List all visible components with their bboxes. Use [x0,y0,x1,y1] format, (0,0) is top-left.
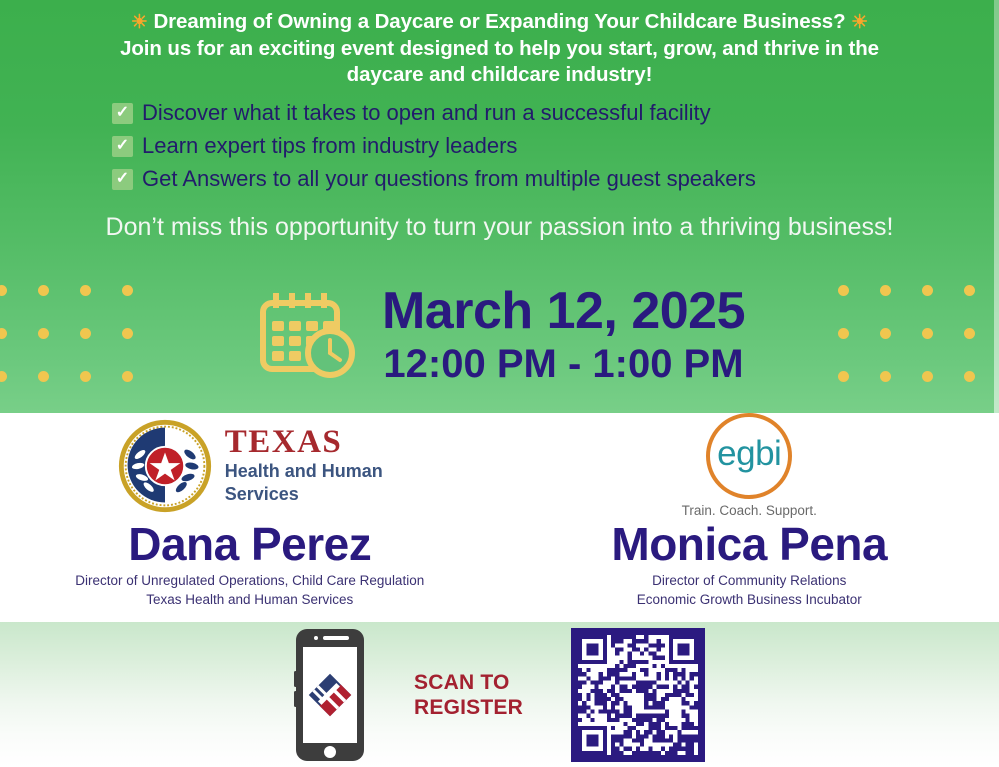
check-icon: ✓ [112,103,133,124]
hhs-subtitle-line-1: Health and Human [225,461,383,482]
egbi-wordmark: egbi [717,436,781,471]
flyer-canvas: ☀ Dreaming of Owning a Daycare or Expand… [0,0,999,767]
scan-to-register-label: SCAN TO REGISTER [414,670,523,720]
tagline: Don’t miss this opportunity to turn your… [0,212,999,242]
speaker-title-line-1: Director of Unregulated Operations, Chil… [0,573,500,589]
texas-wordmark: TEXAS [225,426,383,459]
event-time: 12:00 PM - 1:00 PM [382,340,745,388]
cta-section: SCAN TO REGISTER [0,622,999,767]
check-icon: ✓ [112,169,133,190]
speaker-name: Dana Perez [0,518,500,570]
texas-hhs-seal-icon [117,418,213,514]
speaker-title-line-2: Texas Health and Human Services [0,592,500,608]
egbi-ring-icon: egbi [706,413,792,499]
list-item: ✓ Discover what it takes to open and run… [112,100,999,126]
speaker-card-dana-perez: TEXAS Health and Human Services Dana Per… [0,413,500,622]
hero-section: ☀ Dreaming of Owning a Daycare or Expand… [0,0,999,413]
right-edge-strip [994,0,999,413]
sun-icon: ☀ [131,12,148,33]
list-item-label: Learn expert tips from industry leaders [142,133,517,159]
egbi-tagline: Train. Coach. Support. [682,503,817,519]
datetime-text: March 12, 2025 12:00 PM - 1:00 PM [382,282,745,388]
qr-code[interactable] [571,628,705,762]
speaker-name: Monica Pena [500,518,999,570]
benefit-list: ✓ Discover what it takes to open and run… [0,100,999,192]
sun-icon: ☀ [851,12,868,33]
list-item: ✓ Get Answers to all your questions from… [112,166,999,192]
egbi-logo: egbi Train. Coach. Support. [500,413,999,518]
list-item-label: Get Answers to all your questions from m… [142,166,756,192]
speaker-title-line-1: Director of Community Relations [500,573,999,589]
headline-line-3: daycare and childcare industry! [18,62,981,88]
speaker-card-monica-pena: egbi Train. Coach. Support. Monica Pena … [500,413,999,622]
headline-line-2: Join us for an exciting event designed t… [18,36,981,62]
event-date: March 12, 2025 [382,282,745,340]
speakers-section: TEXAS Health and Human Services Dana Per… [0,413,999,622]
scan-line-2: REGISTER [414,695,523,720]
headline-line-1-text: Dreaming of Owning a Daycare or Expandin… [153,10,845,33]
headline-line-1: ☀ Dreaming of Owning a Daycare or Expand… [18,9,981,36]
scan-line-1: SCAN TO [414,670,523,695]
speaker-title-line-2: Economic Growth Business Incubator [500,592,999,608]
calendar-clock-icon [254,289,358,381]
check-icon: ✓ [112,136,133,157]
headline-block: ☀ Dreaming of Owning a Daycare or Expand… [0,0,999,88]
event-datetime-block: March 12, 2025 12:00 PM - 1:00 PM [0,282,999,388]
texas-hhs-logo: TEXAS Health and Human Services [0,413,500,518]
hhs-subtitle-line-2: Services [225,484,383,505]
list-item: ✓ Learn expert tips from industry leader… [112,133,999,159]
list-item-label: Discover what it takes to open and run a… [142,100,711,126]
smartphone-icon [294,627,366,763]
